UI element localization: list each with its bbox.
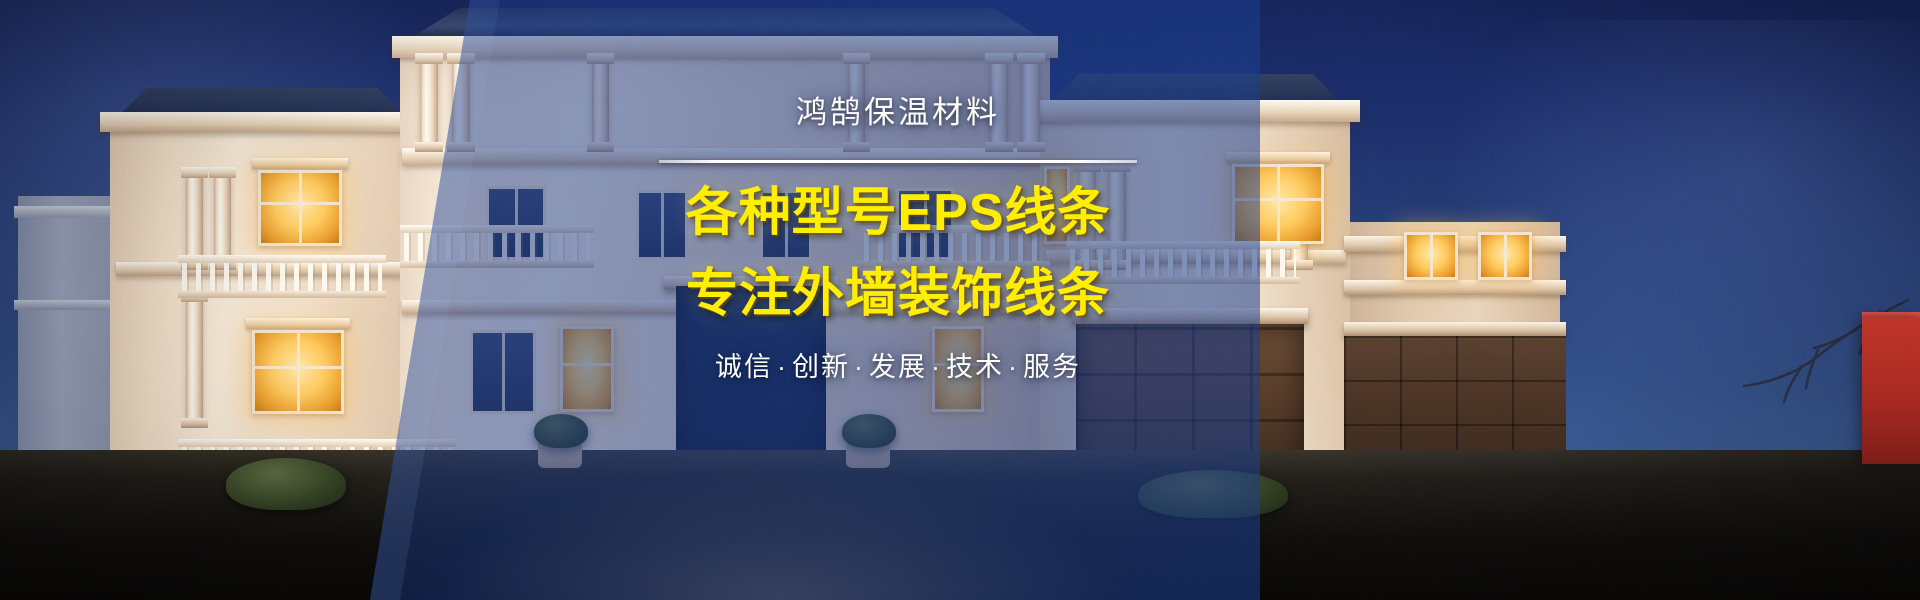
slogan-separator: · xyxy=(773,352,792,382)
red-panel-right-edge xyxy=(1862,318,1920,464)
copy-divider-rule xyxy=(659,160,1137,163)
window-head-left-2 xyxy=(246,318,350,329)
slogan-item: 服务 xyxy=(1023,352,1081,382)
headline-line-1: 各种型号EPS线条 xyxy=(548,183,1248,244)
villa-left-wing-cornice xyxy=(100,112,420,132)
hero-banner: 鸿鹄保温材料 各种型号EPS线条 专注外墙装饰线条 诚信·创新·发展·技术·服务 xyxy=(0,0,1920,600)
window-head-left-1 xyxy=(252,158,348,169)
column-left-3 xyxy=(186,300,203,420)
slogan-line: 诚信·创新·发展·技术·服务 xyxy=(548,351,1248,383)
window-mullion-vertical xyxy=(1430,235,1433,277)
slogan-item: 诚信 xyxy=(715,352,773,382)
column-left-2 xyxy=(214,176,231,262)
slogan-separator: · xyxy=(850,352,869,382)
window-mullion-vertical xyxy=(297,333,300,411)
balustrade-left xyxy=(182,262,382,292)
column-left-1 xyxy=(186,176,203,262)
column-core-1 xyxy=(420,62,438,144)
window-mullion-vertical xyxy=(299,173,302,243)
banner-copy-block: 鸿鹄保温材料 各种型号EPS线条 专注外墙装饰线条 诚信·创新·发展·技术·服务 xyxy=(548,96,1248,383)
window-mullion-horizontal xyxy=(261,202,339,205)
window-left-upper-1 xyxy=(258,170,342,246)
slogan-item: 发展 xyxy=(869,352,927,382)
shrub-hedge-left xyxy=(226,458,346,510)
slogan-item: 技术 xyxy=(946,352,1004,382)
window-mullion-horizontal xyxy=(255,366,341,369)
window-mullion-vertical xyxy=(1277,167,1280,241)
slogan-separator: · xyxy=(927,352,946,382)
headline-line-2: 专注外墙装饰线条 xyxy=(548,264,1248,325)
window-far-right-1 xyxy=(1404,232,1458,280)
window-far-right-2 xyxy=(1478,232,1532,280)
far-right-cornice-3 xyxy=(1344,322,1566,336)
far-right-cornice-2 xyxy=(1344,280,1566,295)
brand-kicker: 鸿鹄保温材料 xyxy=(548,96,1248,130)
window-left-lower-1 xyxy=(252,330,344,414)
slogan-item: 创新 xyxy=(792,352,850,382)
window-mullion-vertical xyxy=(1504,235,1507,277)
slogan-separator: · xyxy=(1004,352,1023,382)
